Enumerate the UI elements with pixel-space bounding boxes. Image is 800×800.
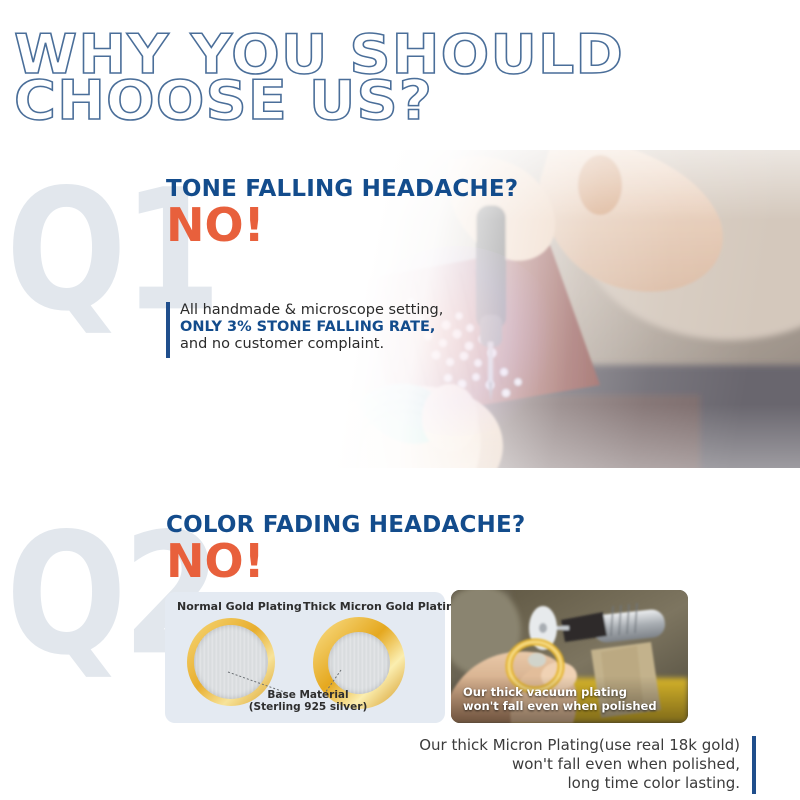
q2-photo-caption: Our thick vacuum plating won't fall even…	[463, 685, 657, 713]
q1-quote-bar	[166, 302, 170, 358]
q2-photo: Our thick vacuum plating won't fall even…	[451, 590, 688, 723]
plating-comparison-panel: Normal Gold Plating Thick Micron Gold Pl…	[165, 592, 445, 723]
q1-quote-line2: ONLY 3% STONE FALLING RATE,	[180, 319, 443, 336]
normal-plating-base-core	[194, 625, 268, 699]
closing-line2: won't fall even when polished,	[320, 755, 740, 774]
q2-photo-caption-line2: won't fall even when polished	[463, 699, 657, 713]
q2-answer: NO!	[166, 538, 265, 584]
q2-photo-caption-line1: Our thick vacuum plating	[463, 685, 657, 699]
closing-line1: Our thick Micron Plating(use real 18k go…	[320, 736, 740, 755]
closing-text: Our thick Micron Plating(use real 18k go…	[320, 736, 740, 793]
q1-quote-line3: and no customer complaint.	[180, 336, 443, 353]
thick-plating-label: Thick Micron Gold Plating	[303, 600, 462, 613]
base-material-caption: Base Material (Sterling 925 silver)	[233, 689, 383, 713]
thick-plating-base-core	[328, 632, 390, 694]
base-material-line2: (Sterling 925 silver)	[233, 701, 383, 713]
normal-plating-label: Normal Gold Plating	[177, 600, 302, 613]
infographic-page: WHY YOU SHOULD CHOOSE US? Q1 TONE FALLIN…	[0, 0, 800, 800]
base-material-line1: Base Material	[233, 689, 383, 701]
closing-accent-bar	[752, 736, 756, 794]
q1-quote-line1: All handmade & microscope setting,	[180, 302, 443, 319]
page-title: WHY YOU SHOULD CHOOSE US?	[14, 32, 800, 124]
q1-quote-block: All handmade & microscope setting, ONLY …	[166, 302, 443, 353]
closing-line3: long time color lasting.	[320, 774, 740, 793]
q1-answer: NO!	[166, 202, 265, 248]
